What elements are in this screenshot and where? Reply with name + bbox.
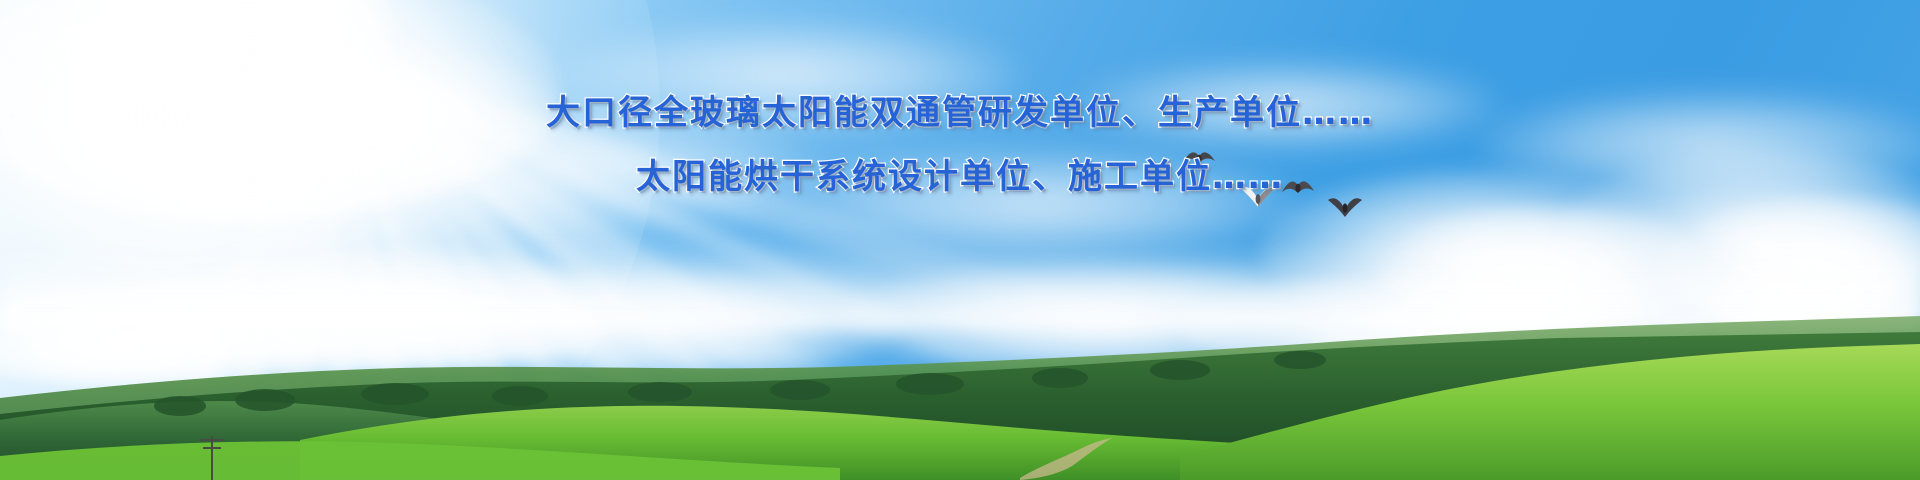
bird-icon bbox=[1238, 182, 1278, 210]
birds-group bbox=[1160, 140, 1400, 230]
headline-block: 大口径全玻璃太阳能双通管研发单位、生产单位…… 太阳能烘干系统设计单位、施工单位… bbox=[0, 96, 1920, 195]
sun-core bbox=[60, 0, 390, 200]
utility-pole bbox=[200, 436, 224, 480]
headline-line-1: 大口径全玻璃太阳能双通管研发单位、生产单位…… bbox=[0, 96, 1920, 132]
bird-icon bbox=[1182, 148, 1216, 170]
horizon-haze bbox=[0, 240, 1920, 330]
headline-line-2: 太阳能烘干系统设计单位、施工单位…… bbox=[0, 160, 1920, 196]
sun-glow bbox=[0, 0, 660, 480]
bird-icon bbox=[1280, 176, 1316, 200]
sun-rays bbox=[0, 0, 1080, 480]
landscape bbox=[0, 280, 1920, 480]
bird-icon bbox=[1326, 192, 1364, 218]
hero-banner: 大口径全玻璃太阳能双通管研发单位、生产单位…… 太阳能烘干系统设计单位、施工单位… bbox=[0, 0, 1920, 480]
